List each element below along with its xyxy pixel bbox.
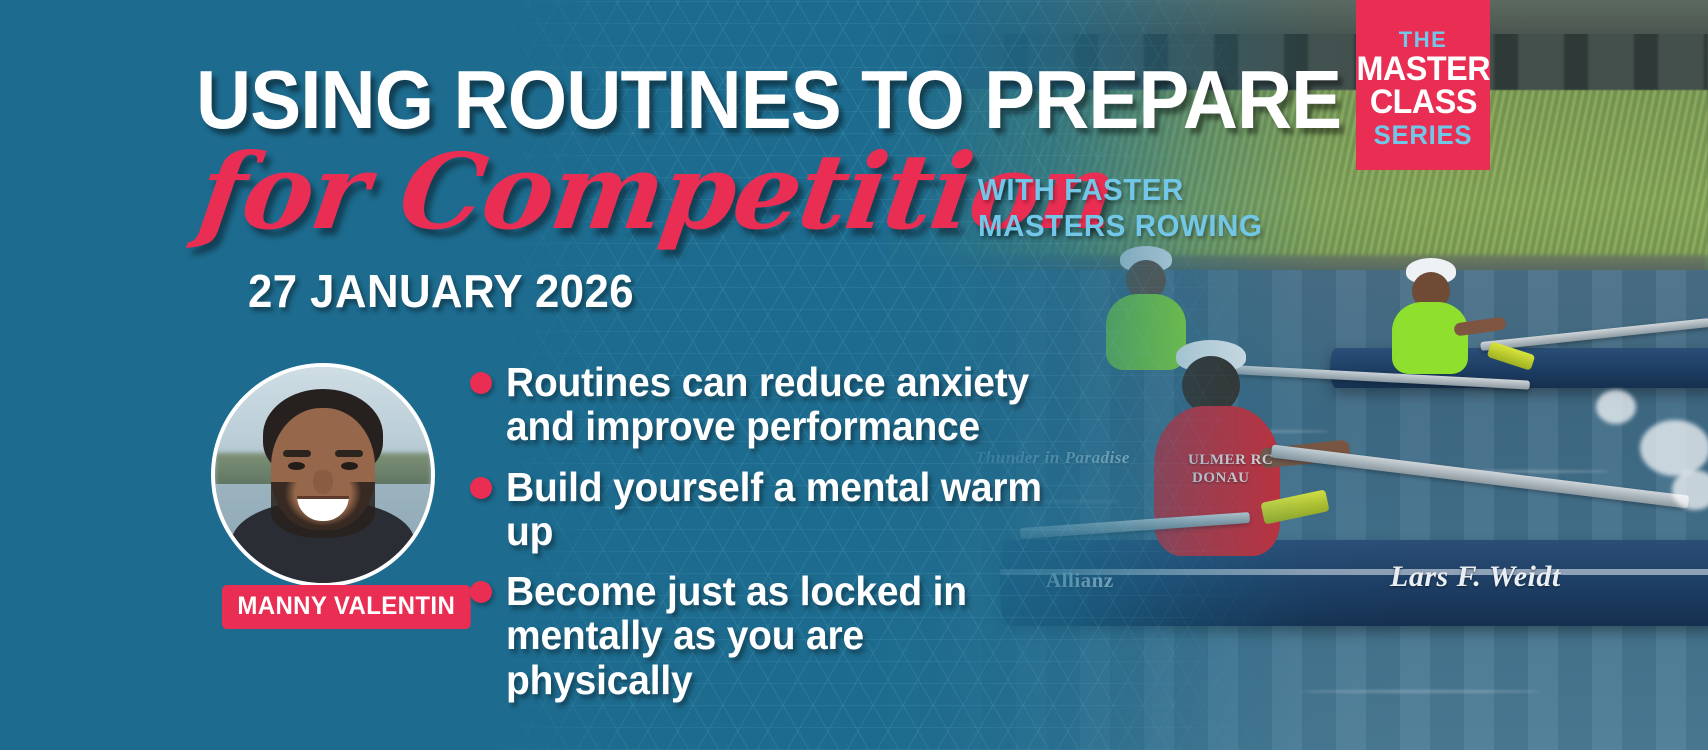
avatar-eye-right: [341, 462, 358, 470]
badge-master-label: MASTER: [1356, 53, 1490, 86]
key-points-list: Routines can reduce anxiety and improve …: [470, 360, 1090, 718]
avatar-eye-left: [288, 462, 305, 470]
avatar-eyebrow-right: [335, 450, 363, 457]
avatar-face: [271, 408, 375, 530]
avatar-nose: [313, 470, 333, 494]
bullet-dot-icon: [470, 581, 492, 603]
promo-banner: Lars F. Weidt Allianz Thunder in Paradis…: [0, 0, 1708, 750]
bullet-text: Become just as locked in mentally as you…: [506, 569, 1061, 702]
badge-class-label: CLASS: [1369, 86, 1476, 119]
banner-content: USING ROUTINES TO PREPARE for Competitio…: [0, 0, 1708, 750]
bullet-dot-icon: [470, 477, 492, 499]
bullet-text: Build yourself a mental warm up: [506, 465, 1061, 554]
list-item: Become just as locked in mentally as you…: [470, 569, 1090, 702]
master-class-series-badge: THE MASTER CLASS SERIES: [1356, 0, 1490, 170]
speaker-name-badge: MANNY VALENTIN: [222, 585, 471, 629]
headline-main: USING ROUTINES TO PREPARE: [196, 62, 1341, 138]
badge-series-label: SERIES: [1374, 122, 1473, 149]
speaker-avatar: [211, 363, 435, 587]
list-item: Routines can reduce anxiety and improve …: [470, 360, 1090, 449]
event-date: 27 JANUARY 2026: [248, 264, 634, 318]
bullet-text: Routines can reduce anxiety and improve …: [506, 360, 1061, 449]
subtitle-line-1: WITH FASTER: [978, 172, 1184, 208]
avatar-eyebrow-left: [283, 450, 311, 457]
list-item: Build yourself a mental warm up: [470, 465, 1090, 554]
badge-the-label: THE: [1399, 29, 1448, 51]
subtitle-line-2: MASTERS ROWING: [978, 208, 1262, 244]
bullet-dot-icon: [470, 372, 492, 394]
